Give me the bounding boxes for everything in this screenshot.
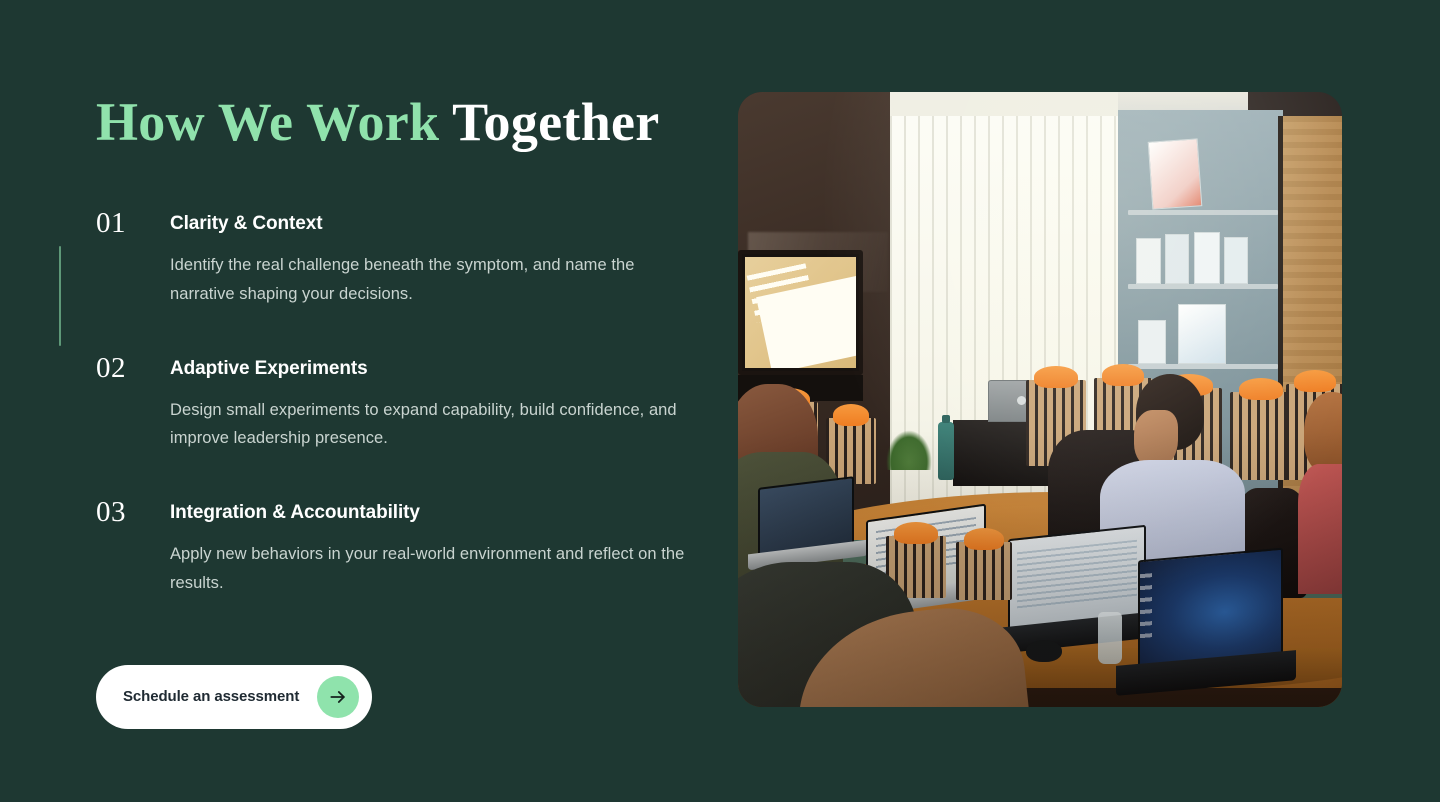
content-column: How We Work Together 01 Clarity & Contex… <box>96 92 696 729</box>
step-title: Integration & Accountability <box>170 501 420 525</box>
photo-shelf <box>1128 284 1278 289</box>
photo-brochure <box>1138 320 1166 364</box>
photo-shelf <box>1128 364 1278 369</box>
step-number: 01 <box>96 209 152 238</box>
step-connector-rail <box>59 246 61 346</box>
conference-room-photo <box>738 92 1342 707</box>
step-number: 03 <box>96 498 152 527</box>
step-number: 02 <box>96 354 152 383</box>
photo-gift-bag <box>956 542 1012 600</box>
step-description: Identify the real challenge beneath the … <box>170 251 690 308</box>
photo-laptop-screen <box>1138 548 1283 669</box>
photo-brochure <box>1178 304 1226 364</box>
step-spacer <box>96 452 696 501</box>
photo-framed-print <box>1148 138 1203 209</box>
step-title: Clarity & Context <box>170 212 322 236</box>
steps-list: 01 Clarity & Context Identify the real c… <box>96 212 696 597</box>
page-title-plain: Together <box>439 92 659 152</box>
step-item-01: 01 Clarity & Context Identify the real c… <box>96 212 696 308</box>
how-we-work-section: How We Work Together 01 Clarity & Contex… <box>0 0 1440 802</box>
step-header: 02 Adaptive Experiments <box>170 357 696 381</box>
step-description: Apply new behaviors in your real-world e… <box>170 540 690 597</box>
step-title: Adaptive Experiments <box>170 357 368 381</box>
step-header: 03 Integration & Accountability <box>170 501 696 525</box>
photo-slide-text <box>747 263 816 322</box>
photo-teal-bottle <box>938 422 954 480</box>
photo-scene <box>738 92 1342 707</box>
photo-person-right-body <box>1298 464 1342 594</box>
step-item-03: 03 Integration & Accountability Apply ne… <box>96 501 696 597</box>
step-spacer <box>96 308 696 357</box>
schedule-assessment-button[interactable]: Schedule an assessment <box>96 665 372 729</box>
schedule-assessment-label: Schedule an assessment <box>123 688 299 705</box>
step-item-02: 02 Adaptive Experiments Design small exp… <box>96 357 696 453</box>
photo-mouse <box>1026 640 1062 662</box>
photo-window-header <box>890 92 1145 116</box>
photo-presentation-screen <box>738 250 863 375</box>
photo-plant <box>886 430 932 470</box>
step-description: Design small experiments to expand capab… <box>170 396 690 453</box>
photo-gift-bag <box>1230 392 1292 480</box>
step-header: 01 Clarity & Context <box>170 212 696 236</box>
arrow-right-icon <box>317 676 359 718</box>
photo-water-bottle <box>1098 612 1122 664</box>
photo-brochure <box>1136 238 1161 284</box>
page-title-accent: How We Work <box>96 92 439 152</box>
page-title: How We Work Together <box>96 92 696 152</box>
photo-brochure <box>1224 237 1248 284</box>
photo-brochure <box>1194 232 1220 284</box>
photo-slide <box>745 257 856 368</box>
photo-brochure <box>1165 234 1189 284</box>
photo-shelf <box>1128 210 1278 215</box>
